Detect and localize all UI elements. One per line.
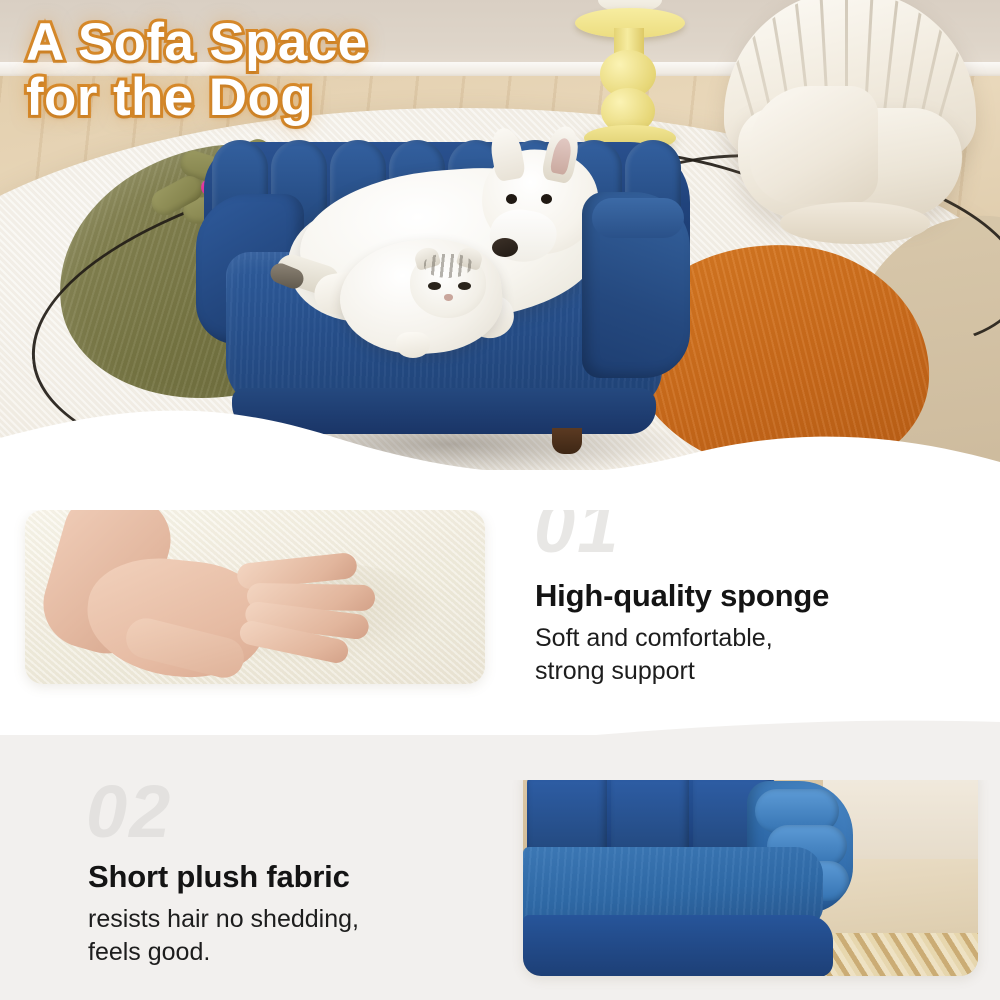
hero-section: A Sofa Space for the Dog bbox=[0, 0, 1000, 510]
chair-swivel-base bbox=[780, 202, 930, 244]
dog-eye-right bbox=[541, 194, 552, 204]
sofa-arm-right-channel bbox=[592, 198, 684, 238]
cat-eye-right bbox=[458, 282, 471, 290]
dog-nose bbox=[492, 238, 518, 257]
photo-woven-rug bbox=[823, 933, 978, 976]
feature-body-02-line1: resists hair no shedding, bbox=[88, 903, 359, 936]
cat-paw bbox=[396, 332, 430, 358]
cat-nose bbox=[444, 294, 453, 301]
cream-accent-chair bbox=[716, 0, 984, 258]
feature-heading-01: High-quality sponge bbox=[535, 578, 829, 614]
feature-body-01-line2: strong support bbox=[535, 655, 773, 688]
cat-eye-left bbox=[428, 282, 441, 290]
feature-body-02-line2: feels good. bbox=[88, 936, 359, 969]
dog-eye-left bbox=[506, 194, 517, 204]
foam-photo bbox=[25, 510, 485, 684]
feature-wave-divider bbox=[0, 700, 1000, 780]
hero-wave-divider bbox=[0, 392, 1000, 510]
closeup-back-channel bbox=[529, 775, 607, 853]
headline-line-1: A Sofa Space bbox=[26, 16, 546, 71]
cat-head-markings bbox=[424, 254, 472, 278]
feature-body-01: Soft and comfortable, strong support bbox=[535, 622, 773, 688]
feature-number-02: 02 bbox=[86, 775, 172, 849]
fabric-closeup-photo bbox=[523, 763, 978, 976]
feature-body-02: resists hair no shedding, feels good. bbox=[88, 903, 359, 969]
feature-heading-02: Short plush fabric bbox=[88, 859, 350, 895]
hero-headline: A Sofa Space for the Dog bbox=[26, 16, 546, 125]
product-infographic-page: A Sofa Space for the Dog 01 High-quality… bbox=[0, 0, 1000, 1000]
chair-arm bbox=[750, 86, 878, 204]
feature-body-01-line1: Soft and comfortable, bbox=[535, 622, 773, 655]
closeup-base bbox=[523, 915, 833, 976]
headline-line-2: for the Dog bbox=[26, 71, 546, 126]
closeup-back-channel bbox=[611, 775, 689, 853]
